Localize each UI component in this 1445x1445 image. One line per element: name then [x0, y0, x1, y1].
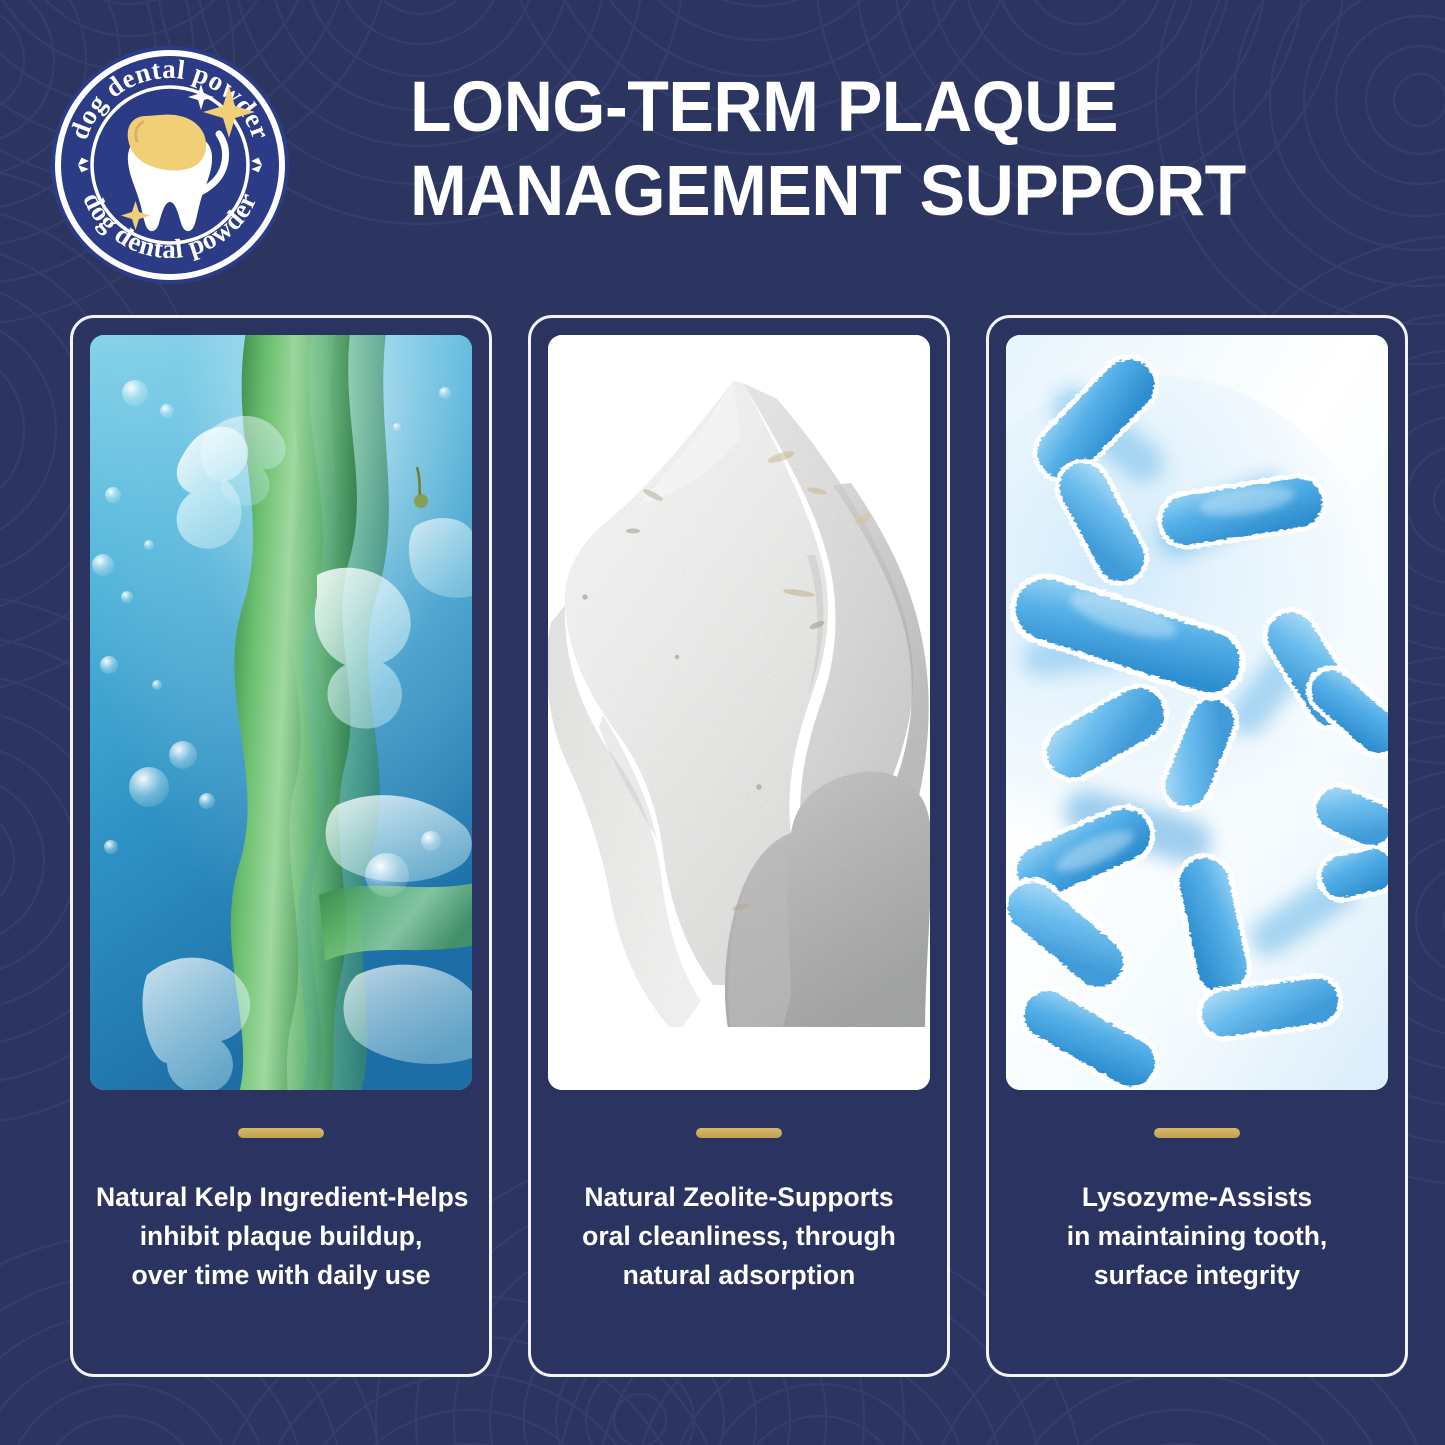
page-title: LONG-TERM PLAQUE MANAGEMENT SUPPORT	[410, 66, 1245, 234]
caption-line: natural adsorption	[554, 1256, 924, 1295]
card-caption: Lysozyme-Assists in maintaining tooth, s…	[1006, 1178, 1388, 1295]
feature-card-lysozyme[interactable]: Lysozyme-Assists in maintaining tooth, s…	[986, 315, 1408, 1377]
page-title-line-1: LONG-TERM PLAQUE	[410, 66, 1245, 150]
bacteria-microscope-photo	[1006, 335, 1388, 1090]
card-divider-bar	[1154, 1128, 1240, 1138]
zeolite-mineral-photo	[548, 335, 930, 1090]
caption-line: Natural Kelp Ingredient-Helps	[96, 1178, 466, 1217]
caption-line: oral cleanliness, through	[554, 1217, 924, 1256]
card-divider-bar	[696, 1128, 782, 1138]
caption-line: over time with daily use	[96, 1256, 466, 1295]
kelp-underwater-photo	[90, 335, 472, 1090]
header: dog dental powder dog dental powder	[0, 0, 1445, 300]
caption-line: Natural Zeolite-Supports	[554, 1178, 924, 1217]
caption-line: Lysozyme-Assists	[1012, 1178, 1382, 1217]
feature-card-kelp[interactable]: Natural Kelp Ingredient-Helps inhibit pl…	[70, 315, 492, 1377]
brand-logo: dog dental powder dog dental powder	[47, 42, 293, 288]
page-title-line-2: MANAGEMENT SUPPORT	[410, 150, 1245, 234]
caption-line: surface integrity	[1012, 1256, 1382, 1295]
card-caption: Natural Kelp Ingredient-Helps inhibit pl…	[90, 1178, 472, 1295]
caption-line: inhibit plaque buildup,	[96, 1217, 466, 1256]
card-divider-bar	[238, 1128, 324, 1138]
feature-card-zeolite[interactable]: Natural Zeolite-Supports oral cleanlines…	[528, 315, 950, 1377]
card-caption: Natural Zeolite-Supports oral cleanlines…	[548, 1178, 930, 1295]
caption-line: in maintaining tooth,	[1012, 1217, 1382, 1256]
